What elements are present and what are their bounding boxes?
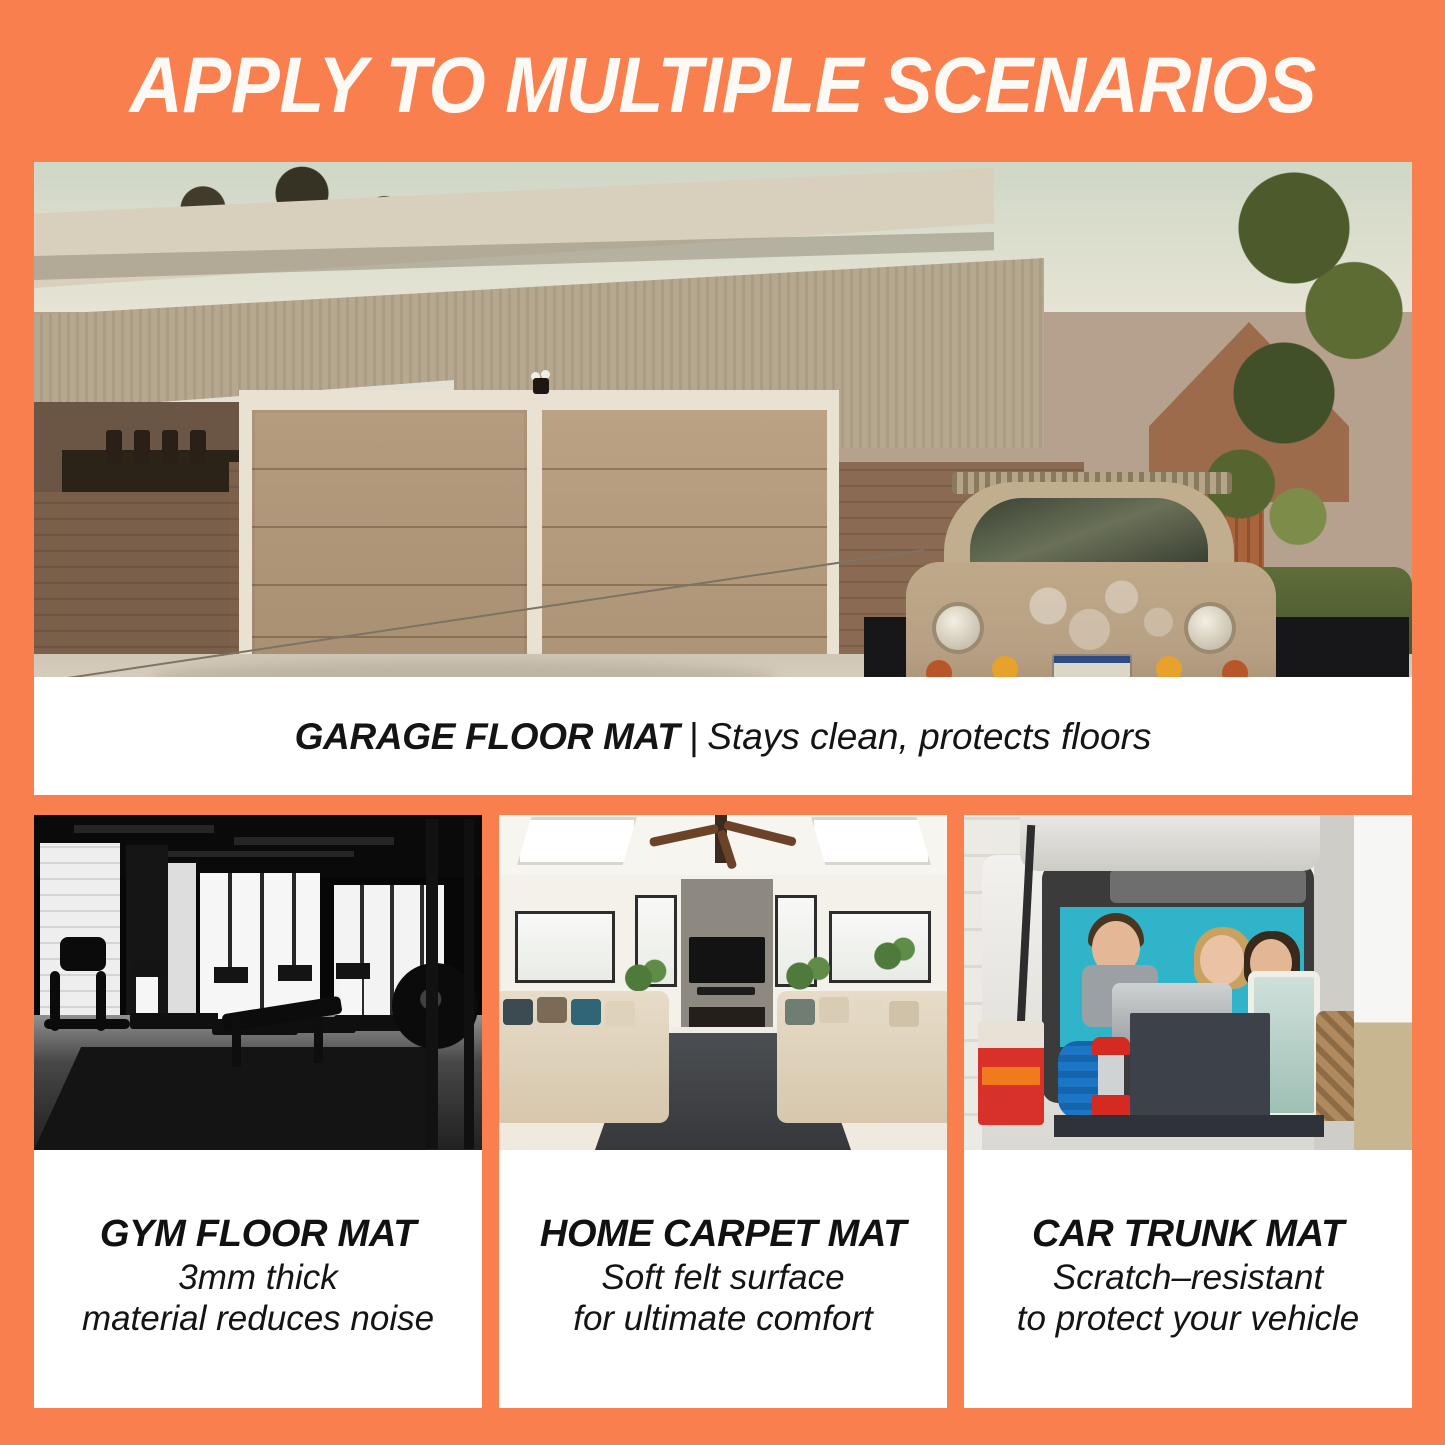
page-header: APPLY TO MULTIPLE SCENARIOS [0,0,1445,162]
featured-caption-text: GARAGE FLOOR MAT|Stays clean, protects f… [295,718,1152,755]
wall-mounted-tv [689,937,765,983]
dappled-light-on-hood [979,570,1209,660]
camping-lantern [1092,1037,1130,1119]
house-numbers [106,430,216,464]
home-caption-line2: for ultimate comfort [573,1298,873,1339]
turn-signal-left [992,656,1018,677]
scenario-card-home: HOME CARPET MAT Soft felt surface for ul… [499,815,947,1408]
trunk-caption-line1: Scratch–resistant [1053,1257,1323,1298]
skylight-right [811,817,931,865]
cushion-5 [785,999,815,1025]
home-caption-title: HOME CARPET MAT [540,1212,906,1257]
turn-signal-right [1156,656,1182,677]
headlight-right [1184,602,1236,654]
scenario-card-trunk: CAR TRUNK MAT Scratch–resistant to prote… [964,815,1412,1408]
cushion-8 [889,1001,919,1027]
page-title: APPLY TO MULTIPLE SCENARIOS [129,45,1315,124]
cushion-7 [853,999,883,1025]
trunk-caption-line2: to protect your vehicle [1017,1298,1359,1339]
cushion-4 [605,1001,635,1027]
license-plate [1052,654,1132,677]
gym-caption-line1: 3mm thick [178,1257,337,1298]
promo-page: APPLY TO MULTIPLE SCENARIOS [0,0,1445,1445]
power-rack-upright-1 [426,819,438,1149]
scenario-card-row: GYM FLOOR MAT 3mm thick material reduces… [34,815,1412,1408]
home-caption: HOME CARPET MAT Soft felt surface for ul… [499,1150,947,1408]
potted-plant-shelf [867,933,919,979]
roof-liner [1110,869,1306,903]
gym-caption-line2: material reduces noise [82,1298,434,1339]
featured-caption-title: GARAGE FLOOR MAT [295,716,680,757]
home-caption-line1: Soft felt surface [601,1257,844,1298]
scenario-card-gym: GYM FLOOR MAT 3mm thick material reduces… [34,815,482,1408]
featured-caption-separator: | [680,716,708,757]
woman-face [1200,935,1244,985]
open-tailgate [1020,815,1320,871]
power-rack-upright-2 [464,819,474,1149]
cushion-3 [571,999,601,1025]
vintage-car [884,442,1304,677]
gym-caption: GYM FLOOR MAT 3mm thick material reduces… [34,1150,482,1408]
car-trunk-photo [964,815,1412,1150]
elliptical-machine [44,937,130,1035]
garage-door-left [252,410,527,677]
featured-card: GARAGE FLOOR MAT|Stays clean, protects f… [34,162,1412,795]
cushion-6 [819,997,849,1023]
gym-caption-title: GYM FLOOR MAT [100,1212,416,1257]
cushion-2 [537,997,567,1023]
garage-door-right [542,410,827,677]
person-standing-at-tailgate [1354,815,1412,1150]
skylight-left [517,817,637,865]
security-light-housing [533,378,549,394]
living-room-photo [499,815,947,1150]
gym-photo [34,815,482,1150]
trunk-caption-title: CAR TRUNK MAT [1032,1212,1344,1257]
garage-photo [34,162,1412,677]
ceiling-fan-icon [649,821,799,861]
window-1 [515,911,615,983]
featured-caption: GARAGE FLOOR MAT|Stays clean, protects f… [34,677,1412,795]
sofa-left [499,991,669,1123]
soundbar [697,987,755,995]
headlight-left [932,602,984,654]
tail-light [978,1021,1044,1125]
sofa-right [777,991,947,1123]
trunk-floor [1054,1115,1324,1137]
featured-caption-subtitle: Stays clean, protects floors [707,716,1151,757]
adjustable-weight-bench [204,993,344,1071]
trunk-caption: CAR TRUNK MAT Scratch–resistant to prote… [964,1150,1412,1408]
cushion-1 [503,999,533,1025]
